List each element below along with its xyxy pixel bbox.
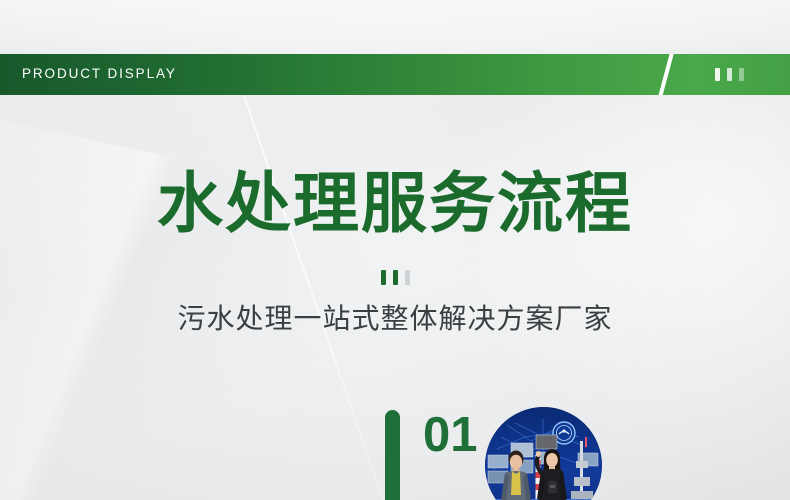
page-title: 水处理服务流程 — [0, 166, 790, 242]
poster-page: PRODUCT DISPLAY 水处理服务流程 污水处理一站式整体解决方案厂家 … — [0, 0, 790, 500]
divider-ticks-icon — [0, 270, 790, 285]
diagonal-slash-icon — [657, 54, 676, 95]
banner-title: PRODUCT DISPLAY — [22, 66, 177, 81]
step-number: 01 — [423, 405, 478, 465]
tick-bars-icon — [715, 68, 744, 81]
page-subtitle: 污水处理一站式整体解决方案厂家 — [0, 300, 790, 338]
accent-bar-icon — [385, 410, 400, 500]
product-display-banner: PRODUCT DISPLAY — [0, 54, 790, 95]
